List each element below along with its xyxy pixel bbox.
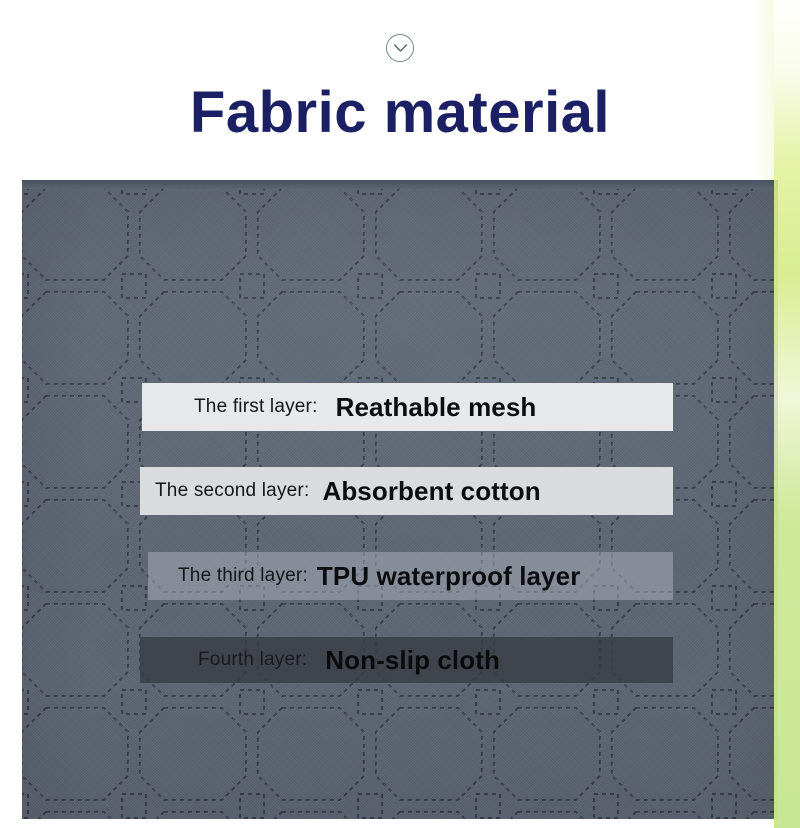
layer-band-fourth: Fourth layer: Non-slip cloth — [140, 637, 673, 683]
layer-prefix-third: The third layer: — [178, 565, 308, 587]
layer-prefix-second: The second layer: — [155, 480, 309, 502]
layer-prefix-fourth: Fourth layer: — [198, 649, 307, 671]
layer-value-first: Reathable mesh — [336, 392, 537, 423]
header-area: Fabric material — [0, 0, 800, 180]
layer-value-fourth: Non-slip cloth — [325, 645, 500, 676]
page-title: Fabric material — [0, 84, 800, 142]
layer-band-second: The second layer: Absorbent cotton — [140, 467, 673, 515]
chevron-down-circle-icon[interactable] — [386, 34, 414, 62]
layer-value-second: Absorbent cotton — [322, 476, 540, 507]
layer-prefix-first: The first layer: — [194, 396, 318, 418]
layer-band-third: The third layer: TPU waterproof layer — [148, 552, 673, 600]
bottom-white-strip — [0, 819, 800, 828]
green-edge-fade — [752, 0, 774, 180]
green-accent-edge — [774, 0, 800, 828]
layer-value-third: TPU waterproof layer — [317, 561, 581, 592]
layer-band-first: The first layer: Reathable mesh — [142, 383, 673, 431]
